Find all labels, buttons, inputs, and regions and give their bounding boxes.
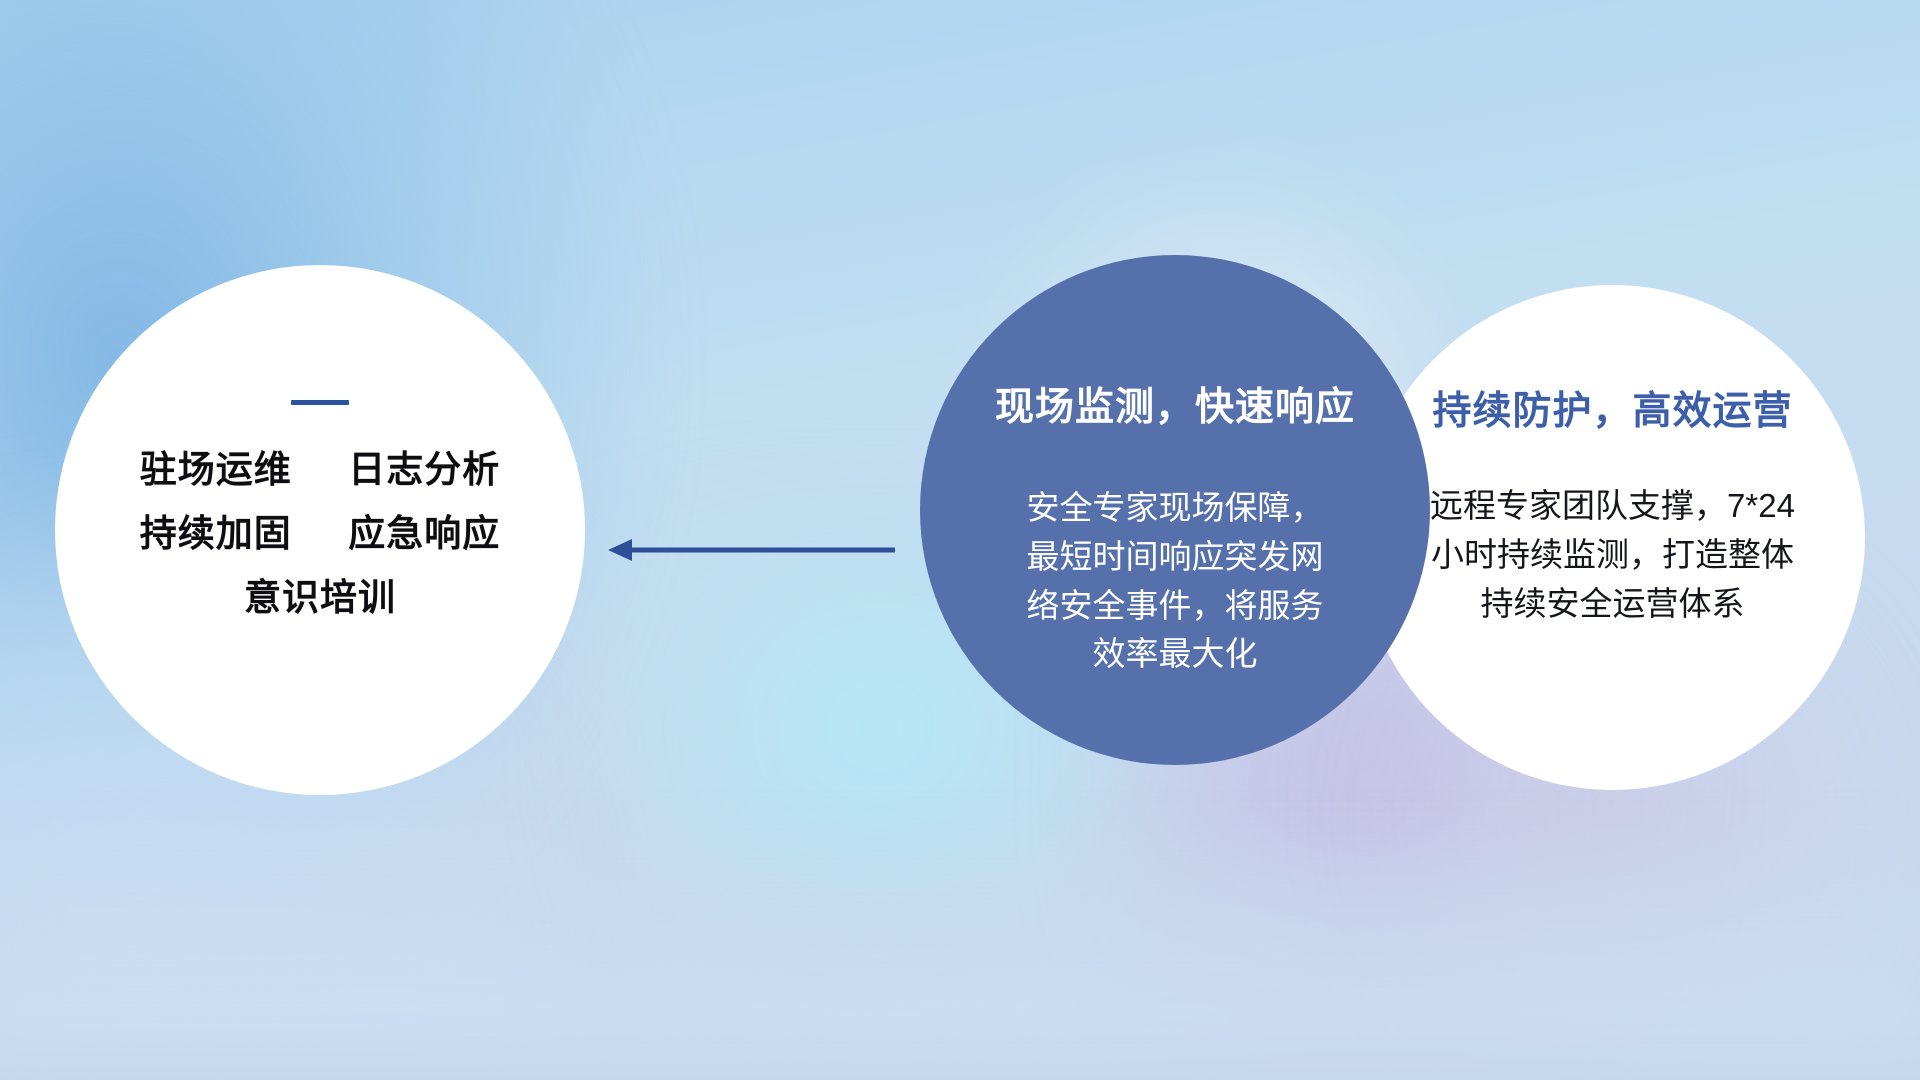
capabilities-list: 驻场运维 日志分析 持续加固 应急响应 意识培训 <box>140 451 501 616</box>
capabilities-circle[interactable]: 驻场运维 日志分析 持续加固 应急响应 意识培训 <box>55 265 585 795</box>
slide-canvas: 驻场运维 日志分析 持续加固 应急响应 意识培训 现场监测，快速响应 安全专家现… <box>0 0 1920 1080</box>
onsite-monitoring-body: 安全专家现场保障，最短时间响应突发网络安全事件，将服务效率最大化 <box>1020 484 1330 679</box>
capability-row-1: 驻场运维 日志分析 <box>140 451 501 488</box>
onsite-monitoring-circle[interactable]: 现场监测，快速响应 安全专家现场保障，最短时间响应突发网络安全事件，将服务效率最… <box>920 255 1430 765</box>
continuous-protection-circle[interactable]: 持续防护，高效运营 远程专家团队支撑，7*24小时持续监测，打造整体持续安全运营… <box>1360 285 1865 790</box>
background-strip-bottom <box>0 1010 1920 1080</box>
continuous-protection-title: 持续防护，高效运营 <box>1432 391 1792 434</box>
capability-awareness-training: 意识培训 <box>244 577 396 618</box>
capability-row-2: 持续加固 应急响应 <box>140 515 501 552</box>
divider-dash <box>291 400 349 405</box>
capability-log-analysis: 日志分析 <box>348 449 500 490</box>
capability-continuous-hardening: 持续加固 <box>140 513 292 554</box>
capability-emergency-response: 应急响应 <box>348 513 500 554</box>
continuous-protection-body: 远程专家团队支撑，7*24小时持续监测，打造整体持续安全运营体系 <box>1420 482 1805 628</box>
capability-row-3: 意识培训 <box>140 579 501 616</box>
onsite-monitoring-title: 现场监测，快速响应 <box>995 387 1355 430</box>
capability-onsite-ops: 驻场运维 <box>140 449 292 490</box>
arrow-left-icon <box>600 520 900 580</box>
